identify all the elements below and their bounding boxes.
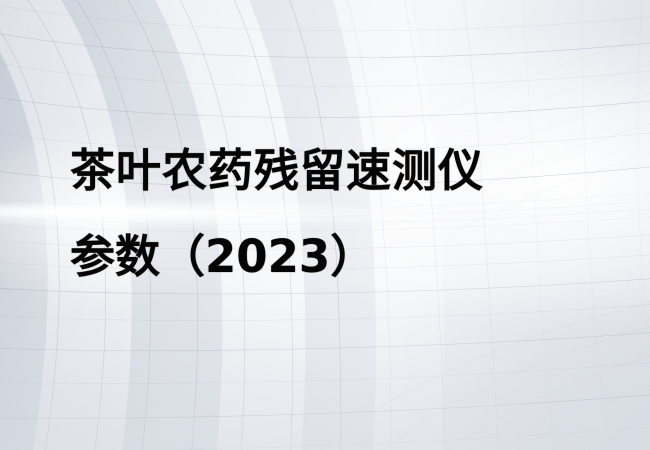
mesh-lattice-lower-right — [300, 300, 650, 450]
title-line-primary: 茶叶农药残留速测仪 — [70, 128, 630, 214]
title-block: 茶叶农药残留速测仪 参数（2023） — [70, 128, 630, 300]
banner-image: 茶叶农药残留速测仪 参数（2023） — [0, 0, 650, 450]
title-line-secondary: 参数（2023） — [70, 214, 630, 300]
